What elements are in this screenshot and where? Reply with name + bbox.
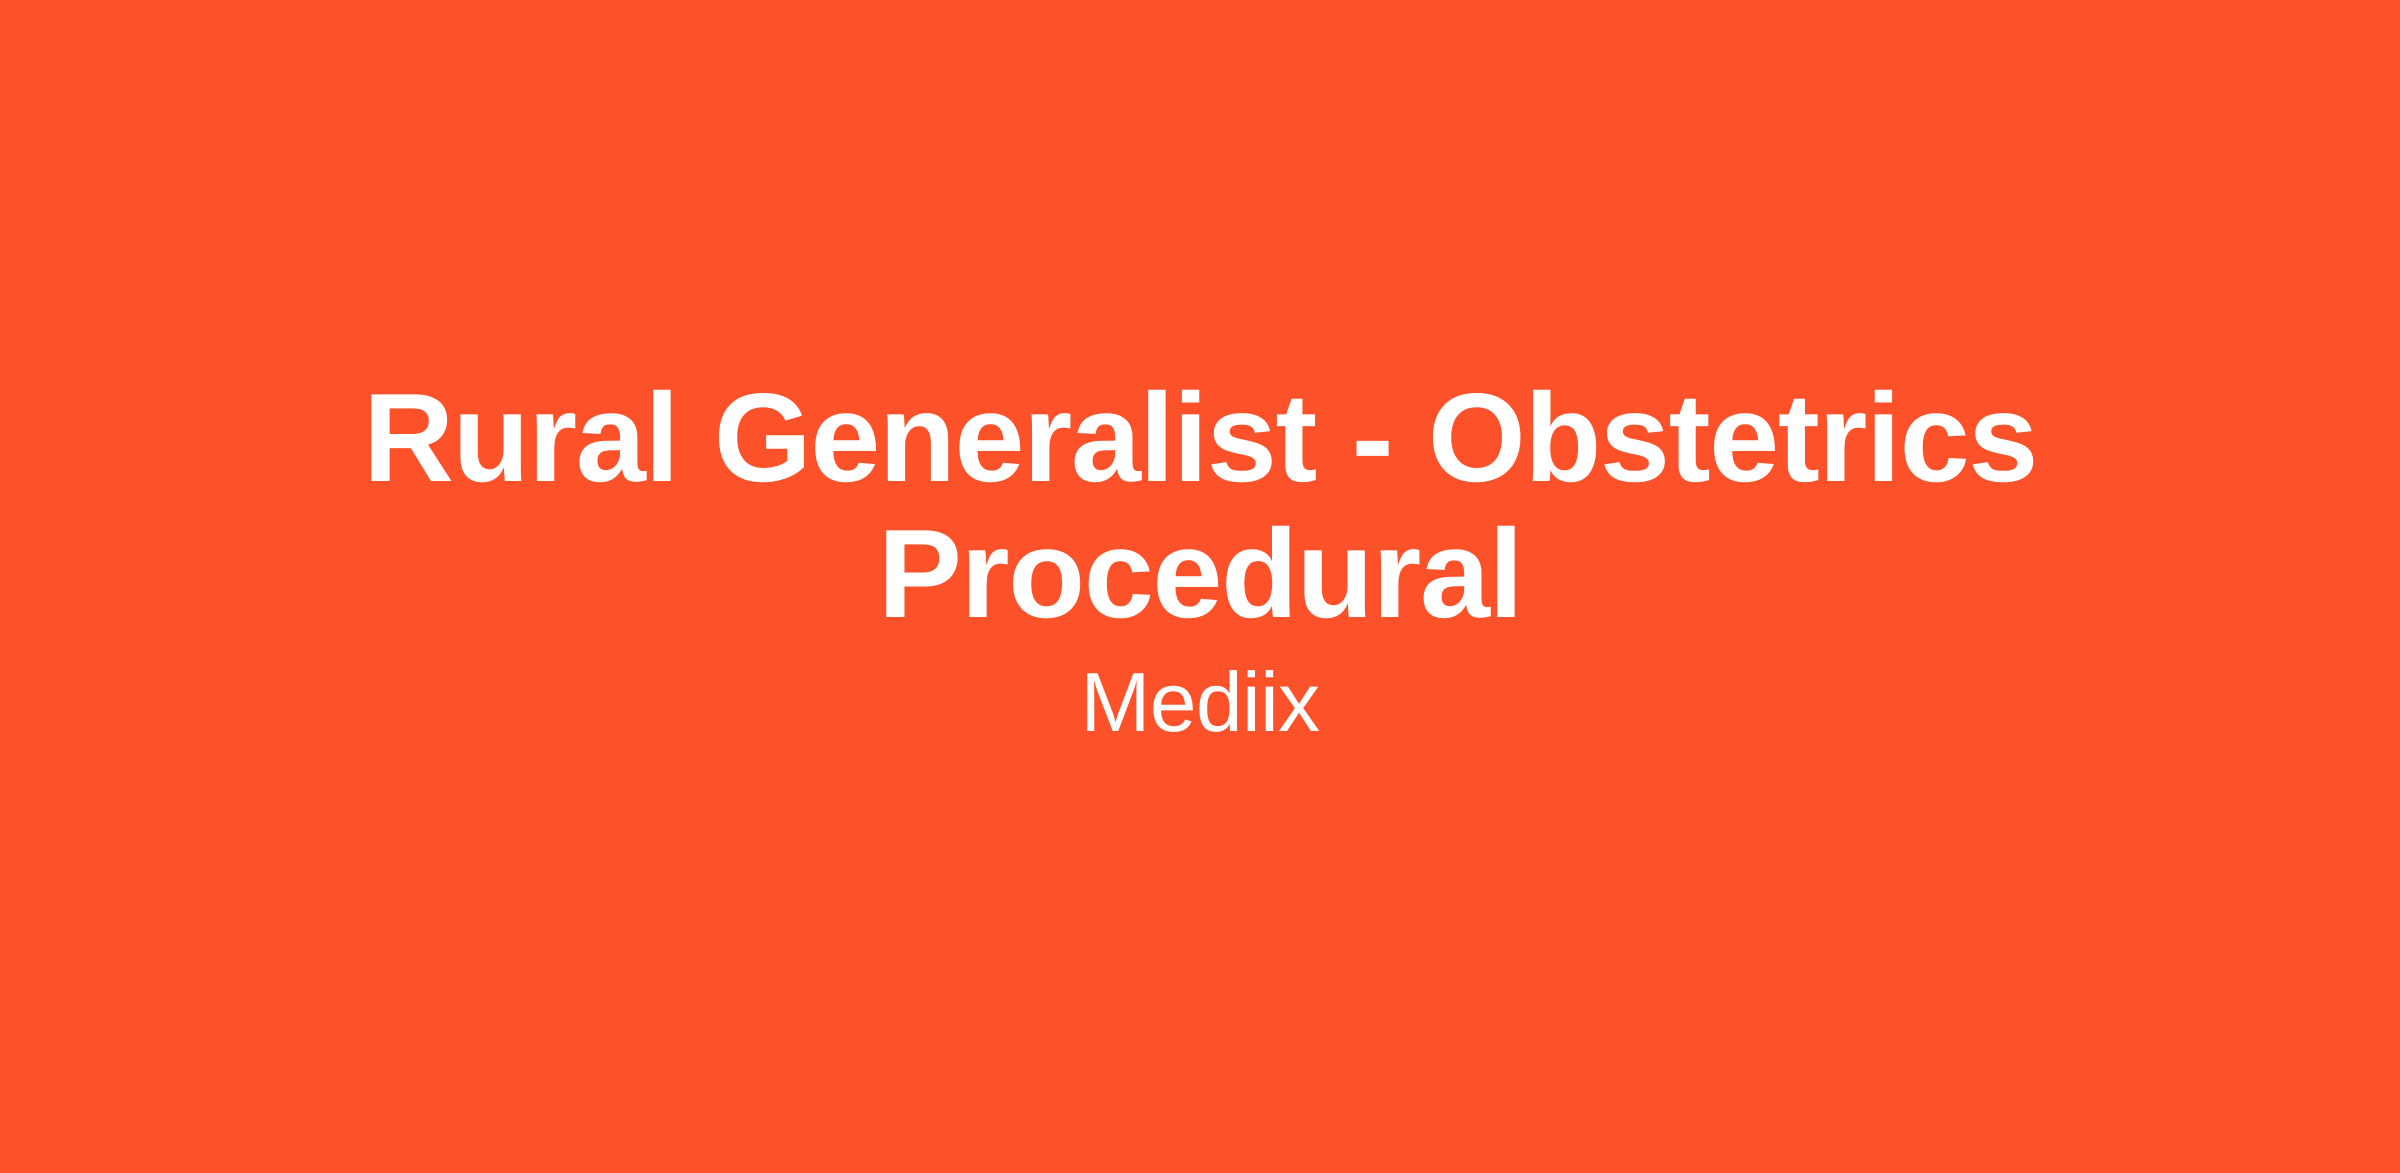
- page-title: Rural Generalist - Obstetrics Procedural: [350, 370, 2050, 642]
- hero-text-block: Rural Generalist - Obstetrics Procedural…: [320, 370, 2080, 749]
- page-subtitle: Mediix: [1080, 656, 1319, 748]
- title-slide: Rural Generalist - Obstetrics Procedural…: [0, 0, 2400, 1173]
